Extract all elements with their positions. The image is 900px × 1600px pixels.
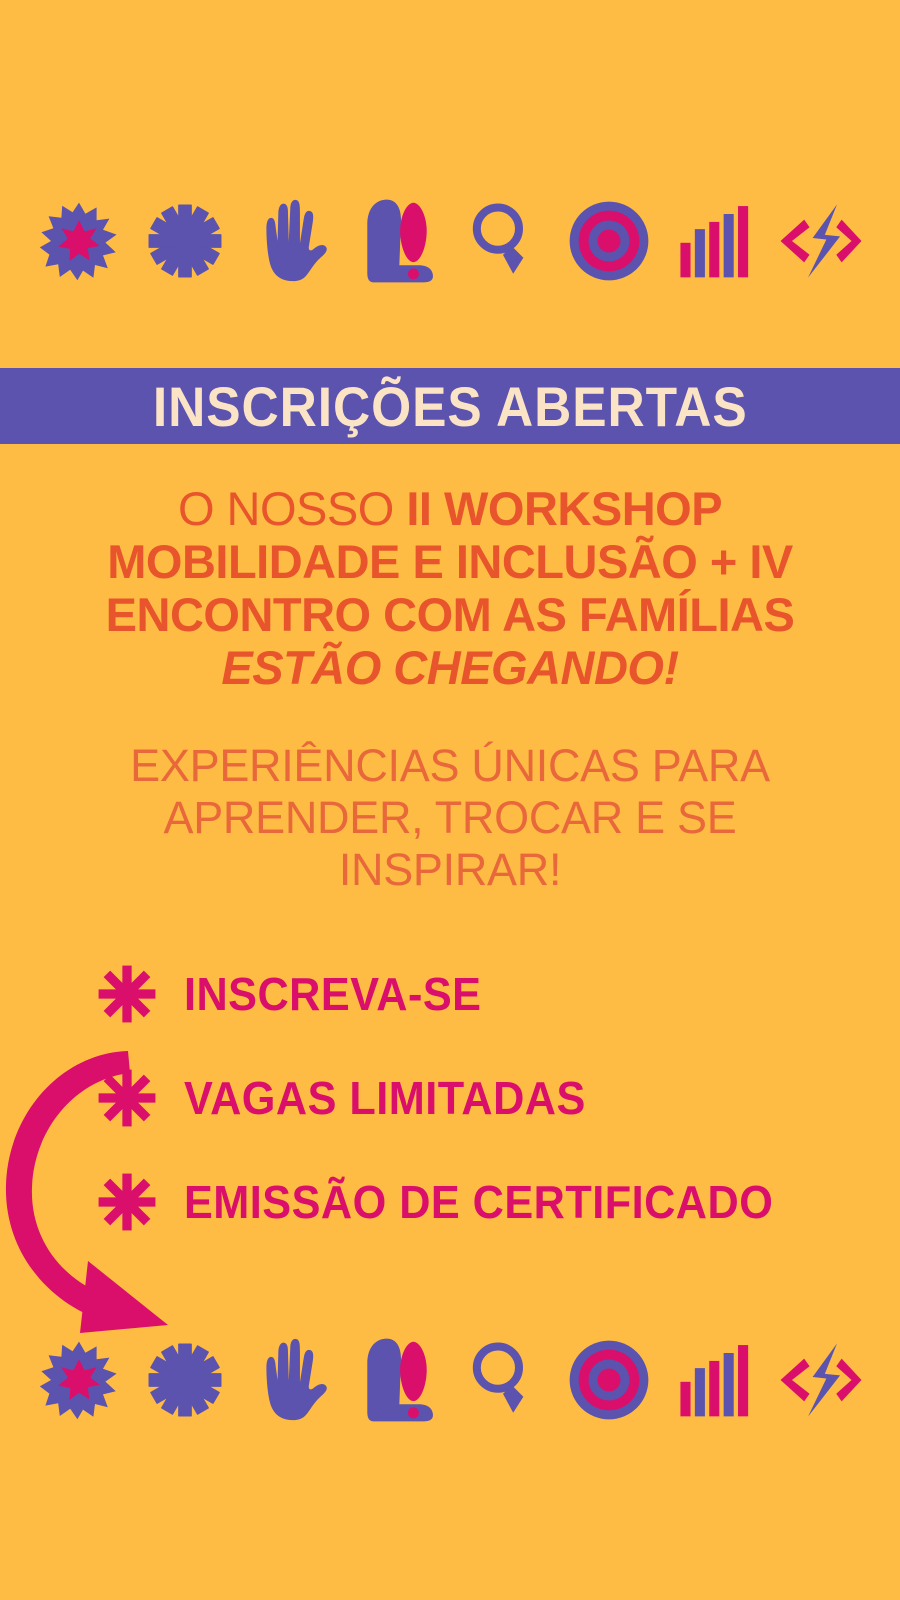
exclamation-drop-icon: [355, 1334, 439, 1426]
target-icon: [567, 195, 651, 287]
icon-strip-bottom: [0, 1325, 900, 1435]
headline: O NOSSO II WORKSHOP MOBILIDADE E INCLUSÃ…: [50, 482, 850, 694]
asterisk-icon: [96, 1067, 158, 1129]
banner-title: INSCRIÇÕES ABERTAS: [153, 379, 748, 435]
icon-strip-top: [0, 186, 900, 296]
splat-star-icon: [37, 1334, 121, 1426]
bar-chart-icon: [673, 195, 757, 287]
target-icon: [567, 1334, 651, 1426]
hand-icon: [249, 195, 333, 287]
poster-root: INSCRIÇÕES ABERTAS O NOSSO II WORKSHOP M…: [0, 0, 900, 1600]
bullet-list: INSCREVA-SE VAGAS LIMITADAS: [96, 942, 856, 1254]
code-bolt-icon: [779, 1334, 863, 1426]
list-item-label: EMISSÃO DE CERTIFICADO: [184, 1179, 773, 1225]
headline-light-part: O NOSSO: [178, 482, 406, 535]
magnifier-icon: [461, 1334, 545, 1426]
list-item[interactable]: VAGAS LIMITADAS: [96, 1046, 856, 1150]
bar-chart-icon: [673, 1334, 757, 1426]
list-item[interactable]: EMISSÃO DE CERTIFICADO: [96, 1150, 856, 1254]
asterisk-icon: [143, 195, 227, 287]
headline-italic-part: ESTÃO CHEGANDO!: [221, 641, 678, 694]
asterisk-icon: [143, 1334, 227, 1426]
subline: EXPERIÊNCIAS ÚNICAS PARA APRENDER, TROCA…: [50, 740, 850, 896]
asterisk-icon: [96, 963, 158, 1025]
banner: INSCRIÇÕES ABERTAS: [0, 368, 900, 444]
subline-text: EXPERIÊNCIAS ÚNICAS PARA APRENDER, TROCA…: [130, 740, 770, 895]
asterisk-icon: [96, 1171, 158, 1233]
hand-icon: [249, 1334, 333, 1426]
magnifier-icon: [461, 195, 545, 287]
exclamation-drop-icon: [355, 195, 439, 287]
splat-star-icon: [37, 195, 121, 287]
code-bolt-icon: [779, 195, 863, 287]
list-item[interactable]: INSCREVA-SE: [96, 942, 856, 1046]
list-item-label: VAGAS LIMITADAS: [184, 1075, 586, 1121]
list-item-label: INSCREVA-SE: [184, 971, 481, 1017]
